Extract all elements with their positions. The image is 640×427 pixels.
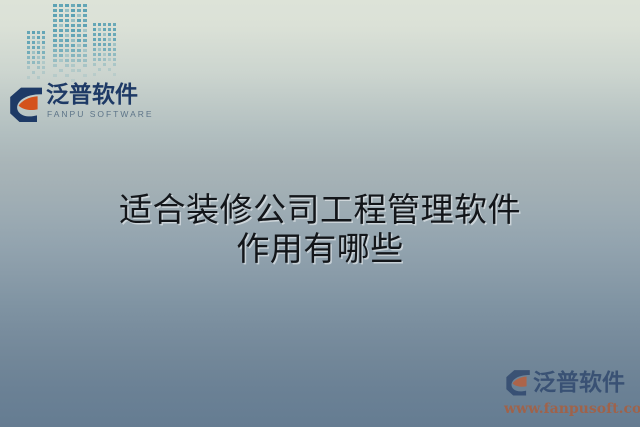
promo-banner: 泛普软件 FANPU SOFTWARE 适合装修公司工程管理软件 作用有哪些 泛… [0,0,640,427]
watermark-url: www.fanpusoft.com [500,401,640,417]
page-title-line-2: 作用有哪些 [0,229,640,268]
watermark-name-cn: 泛普软件 [533,371,625,396]
brand-logo: 泛普软件 FANPU SOFTWARE [7,83,159,133]
page-title: 适合装修公司工程管理软件 作用有哪些 [0,190,640,268]
logo-name-en: FANPU SOFTWARE [47,109,154,120]
pixel-cityscape-graphic [26,0,126,86]
watermark-logo-row: 泛普软件 [500,365,640,401]
watermark: 泛普软件 www.fanpusoft.com [500,365,640,422]
logo-name-cn: 泛普软件 [46,83,138,108]
page-title-line-1: 适合装修公司工程管理软件 [0,190,640,229]
logo-wordmark: 泛普软件 FANPU SOFTWARE [46,83,154,120]
fanpu-emblem-icon [7,86,45,124]
fanpu-emblem-icon [504,369,532,397]
